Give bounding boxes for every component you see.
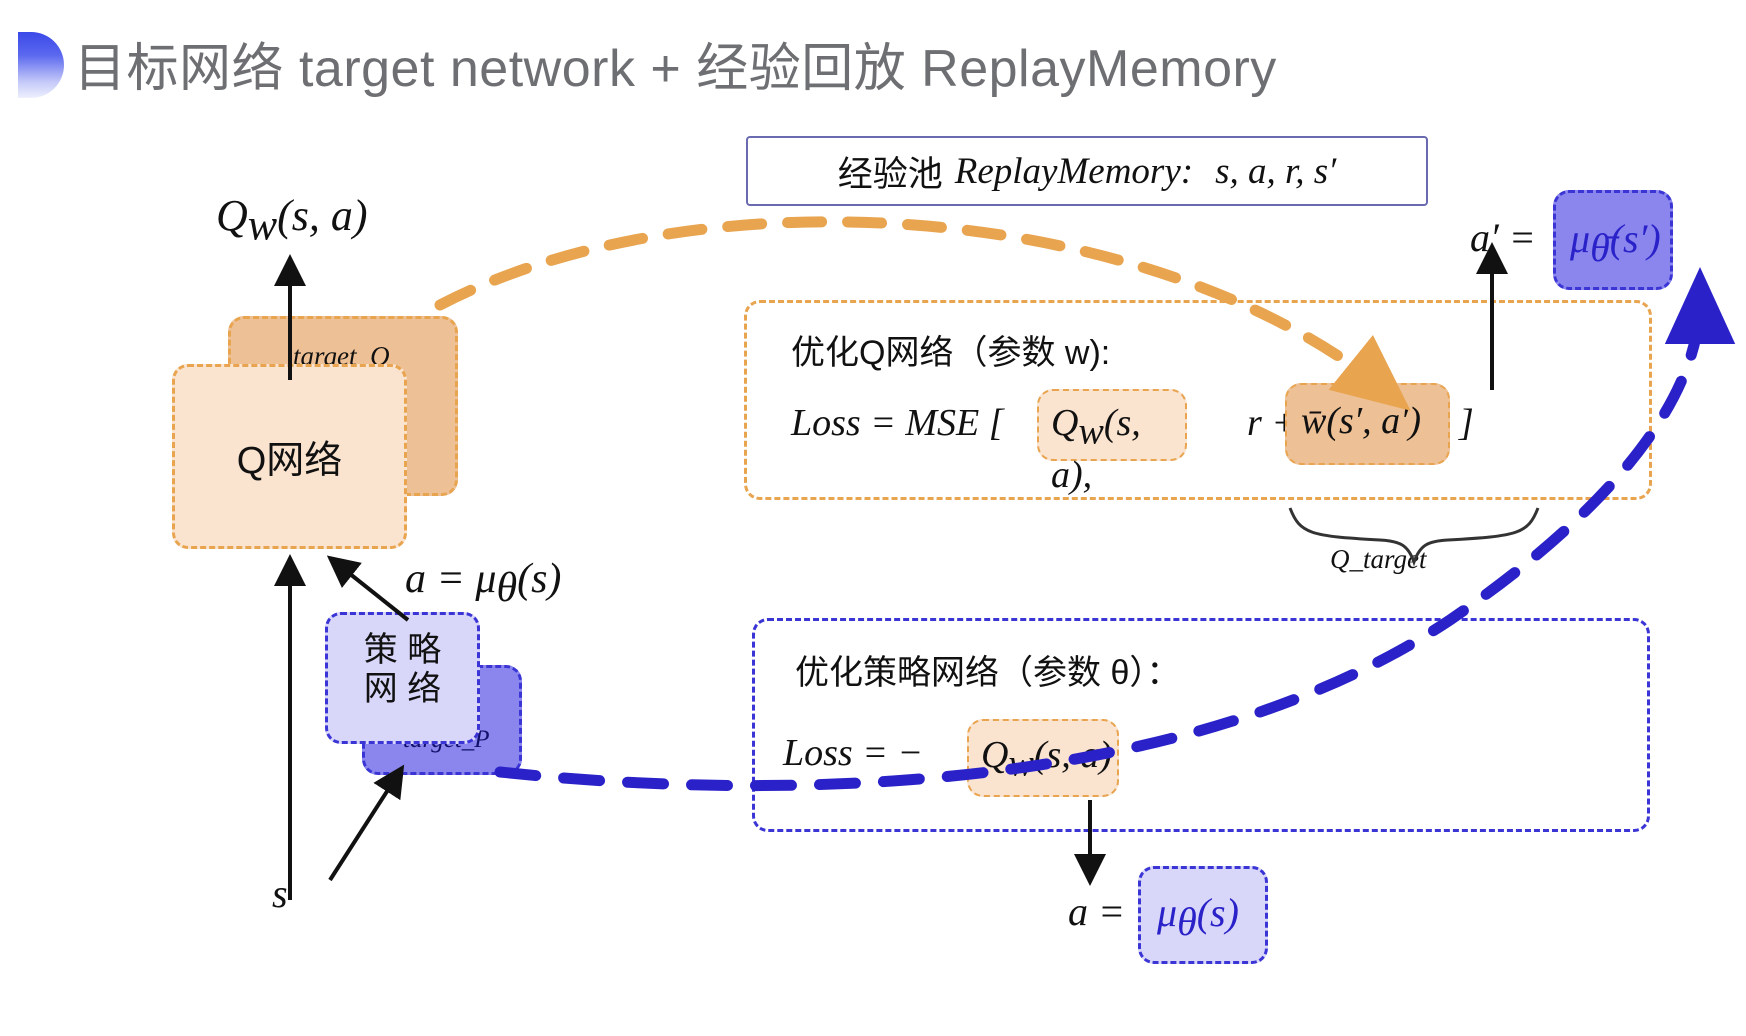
q-target-term-box[interactable]: w̄(s′, a′) <box>1285 383 1450 465</box>
q-online-term-box[interactable]: Qw(s, a), <box>1037 389 1187 461</box>
policy-loss-prefix: Loss = − <box>783 731 923 775</box>
target-action-box[interactable]: μθ̄(s′) <box>1553 190 1673 290</box>
output-action-box[interactable]: μθ(s) <box>1138 866 1268 964</box>
policy-network-box[interactable]: 策 略 网 络 <box>325 612 480 744</box>
page-title: 目标网络 target network + 经验回放 ReplayMemory <box>74 26 1277 101</box>
q-output-label: Qw(s, a) <box>216 190 368 251</box>
policy-optimization-panel: 优化策略网络（参数 θ）： Loss = − Qw(s, a) <box>752 618 1650 832</box>
q-network-box[interactable]: Q网络 <box>172 364 407 549</box>
q-target-brace-label: Q_target <box>1330 544 1427 575</box>
action-equation-label: a = μθ(s) <box>405 555 561 612</box>
policy-optimization-heading: 优化策略网络（参数 θ）： <box>795 645 1180 694</box>
policy-network-label-line1: 策 略 <box>328 631 477 670</box>
output-action-prefix: a = <box>1068 888 1125 935</box>
state-label: s <box>272 870 288 917</box>
q-loss-prefix: Loss = MSE [ <box>791 401 1004 445</box>
q-optimization-panel: 优化Q网络（参数 w): Loss = MSE [ Qw(s, a), r + … <box>744 300 1652 500</box>
half-circle-bullet-icon <box>18 32 64 98</box>
replay-memory-banner: 经验池 ReplayMemory : s, a, r, s′ <box>746 136 1428 206</box>
replay-memory-en-label: ReplayMemory <box>955 150 1181 193</box>
q-optimization-heading: 优化Q网络（参数 w): <box>791 325 1110 374</box>
policy-network-label-line2: 网 络 <box>328 670 477 709</box>
replay-memory-tuple: s, a, r, s′ <box>1215 150 1336 193</box>
replay-memory-cn-label: 经验池 <box>838 146 943 197</box>
policy-q-term-box[interactable]: Qw(s, a) <box>967 719 1119 797</box>
slide-canvas: 目标网络 target network + 经验回放 ReplayMemory … <box>0 0 1746 1036</box>
replay-memory-colon: : <box>1181 150 1193 193</box>
arrow-state-to-policy <box>330 768 402 880</box>
q-network-label: Q网络 <box>237 429 343 484</box>
target-action-prefix: a′ = <box>1470 214 1536 261</box>
arrow-policy-to-qnet <box>330 558 408 620</box>
q-bracket-close: ] <box>1459 401 1474 445</box>
